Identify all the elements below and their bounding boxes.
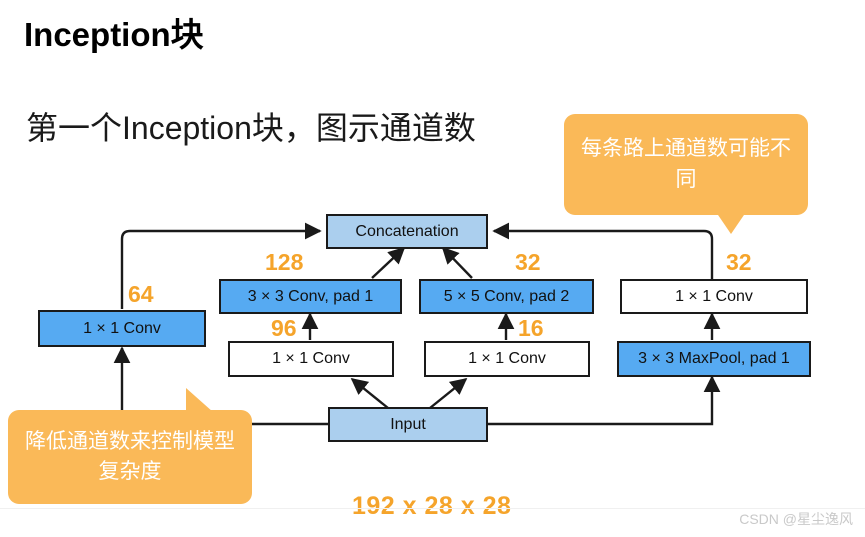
callout-top-tail [716,212,746,234]
node-label: Concatenation [355,224,458,240]
node-conv5x5-pad2[interactable]: 5 × 5 Conv, pad 2 [419,279,594,314]
channel-count-16: 16 [518,315,544,342]
edge-input-to-maxpool [486,377,712,424]
edge-conv5x5-to-concat [443,248,472,278]
node-conv1x1-mid-a[interactable]: 1 × 1 Conv [228,341,394,377]
channel-count-32-left: 32 [515,249,541,276]
node-conv1x1-mid-b[interactable]: 1 × 1 Conv [424,341,590,377]
callout-text: 降低通道数来控制模型复杂度 [20,427,240,488]
channel-count-128: 128 [265,249,303,276]
channel-count-96: 96 [271,315,297,342]
node-conv1x1-right[interactable]: 1 × 1 Conv [620,279,808,314]
node-conv1x1-left[interactable]: 1 × 1 Conv [38,310,206,347]
edge-input-to-conv1x1a [352,379,388,408]
callout-channels-may-differ: 每条路上通道数可能不同 [564,114,808,215]
csdn-watermark: CSDN @星尘逸风 [739,509,853,529]
node-label: 1 × 1 Conv [83,321,161,337]
node-label: 1 × 1 Conv [468,351,546,367]
node-maxpool3x3[interactable]: 3 × 3 MaxPool, pad 1 [617,341,811,377]
node-label: 5 × 5 Conv, pad 2 [444,289,570,305]
edge-input-to-conv1x1b [430,379,466,408]
slide-canvas: Inception块 第一个Inception块，图示通道数 [0,0,865,537]
node-label: 1 × 1 Conv [272,351,350,367]
edge-conv3x3-to-concat [372,248,404,278]
node-label: 1 × 1 Conv [675,289,753,305]
callout-reduce-channels: 降低通道数来控制模型复杂度 [8,410,252,504]
channel-count-32-right: 32 [726,249,752,276]
input-dimension-label: 192 x 28 x 28 [352,492,511,521]
node-concatenation[interactable]: Concatenation [326,214,488,249]
callout-text: 每条路上通道数可能不同 [578,134,794,195]
node-label: Input [390,417,426,433]
channel-count-64: 64 [128,281,154,308]
node-conv3x3-pad1[interactable]: 3 × 3 Conv, pad 1 [219,279,402,314]
node-input[interactable]: Input [328,407,488,442]
bottom-divider [0,508,865,509]
node-label: 3 × 3 MaxPool, pad 1 [638,351,790,367]
node-label: 3 × 3 Conv, pad 1 [248,289,374,305]
